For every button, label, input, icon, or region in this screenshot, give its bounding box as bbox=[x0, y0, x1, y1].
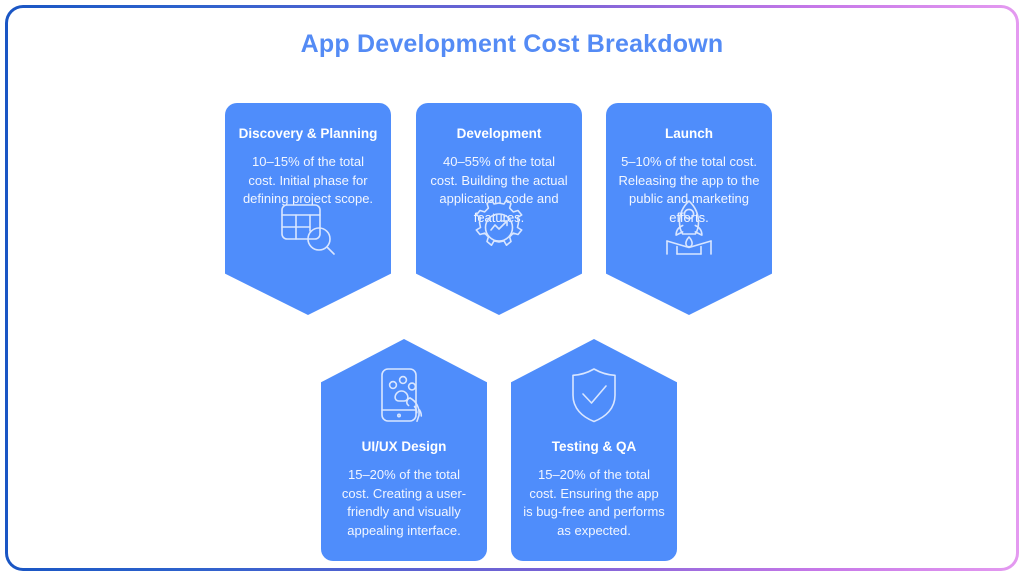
card-heading: Discovery & Planning bbox=[237, 125, 379, 142]
table-search-icon bbox=[272, 197, 344, 261]
phone-touch-icon bbox=[368, 365, 440, 429]
card-description: 15–20% of the total cost. Ensuring the a… bbox=[523, 466, 665, 540]
cost-card-discovery-planning[interactable]: Discovery & Planning 10–15% of the total… bbox=[225, 103, 391, 315]
cost-card-launch[interactable]: Launch 5–10% of the total cost. Releasin… bbox=[606, 103, 772, 315]
shield-check-icon bbox=[558, 365, 630, 429]
card-body: Testing & QA 15–20% of the total cost. E… bbox=[511, 438, 677, 540]
cost-card-ui-ux-design[interactable]: UI/UX Design 15–20% of the total cost. C… bbox=[321, 339, 487, 561]
card-description: 15–20% of the total cost. Creating a use… bbox=[333, 466, 475, 540]
card-heading: UI/UX Design bbox=[333, 438, 475, 455]
rocket-launch-icon bbox=[653, 197, 725, 261]
card-body: Discovery & Planning 10–15% of the total… bbox=[225, 125, 391, 209]
cost-card-development[interactable]: Development 40–55% of the total cost. Bu… bbox=[416, 103, 582, 315]
infographic-frame: App Development Cost Breakdown Discovery… bbox=[5, 5, 1019, 571]
infographic-canvas: App Development Cost Breakdown Discovery… bbox=[8, 8, 1016, 568]
cost-card-testing-qa[interactable]: Testing & QA 15–20% of the total cost. E… bbox=[511, 339, 677, 561]
card-heading: Testing & QA bbox=[523, 438, 665, 455]
card-heading: Launch bbox=[618, 125, 760, 142]
card-heading: Development bbox=[428, 125, 570, 142]
card-body: UI/UX Design 15–20% of the total cost. C… bbox=[321, 438, 487, 540]
page-title: App Development Cost Breakdown bbox=[8, 30, 1016, 59]
gear-chart-icon bbox=[463, 197, 535, 261]
